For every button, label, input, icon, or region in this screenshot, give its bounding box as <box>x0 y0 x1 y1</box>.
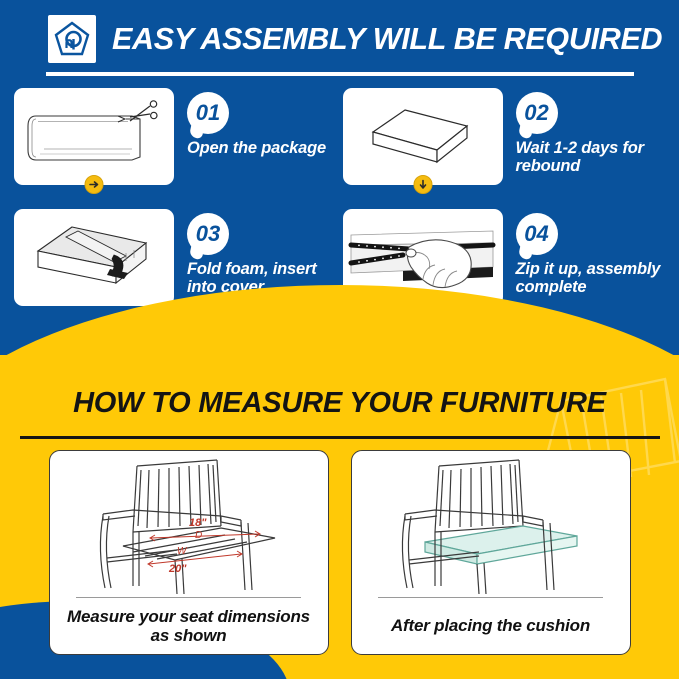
chair-with-dimension-callouts-illustration: 18" D W 20" <box>50 451 328 597</box>
measure-panels: 18" D W 20" Measure your seat dimensions… <box>0 450 679 655</box>
step-number-badge: 04 <box>516 213 558 255</box>
step-label: Zip it up, assembly complete <box>516 260 666 297</box>
header-divider <box>46 72 634 76</box>
house-pentagon-logo-icon <box>48 15 96 63</box>
flat-foam-slab-illustration <box>343 88 503 185</box>
step-text: 02 Wait 1-2 days for rebound <box>516 88 666 176</box>
rolled-package-with-scissors-illustration <box>14 88 174 185</box>
panel-caption: Measure your seat dimensions as shown <box>50 598 328 654</box>
svg-text:18": 18" <box>189 517 207 529</box>
panel-caption: After placing the cushion <box>383 598 598 654</box>
step-number-badge: 03 <box>187 213 229 255</box>
measure-panel: 18" D W 20" Measure your seat dimensions… <box>49 450 329 655</box>
step-text: 04 Zip it up, assembly complete <box>516 209 666 297</box>
step-label: Open the package <box>187 139 326 157</box>
step-text: 03 Fold foam, insert into cover <box>187 209 337 297</box>
measure-panel: After placing the cushion <box>351 450 631 655</box>
step-text: 01 Open the package <box>187 88 326 157</box>
svg-text:W: W <box>177 546 188 557</box>
step-number-badge: 02 <box>516 92 558 134</box>
svg-text:20": 20" <box>168 563 187 575</box>
measure-divider <box>20 436 660 439</box>
svg-text:D: D <box>195 530 202 541</box>
step-item: 01 Open the package <box>14 88 337 204</box>
step-number-badge: 01 <box>187 92 229 134</box>
assembly-section: EASY ASSEMBLY WILL BE REQUIRED <box>0 0 679 355</box>
measure-heading: HOW TO MEASURE YOUR FURNITURE <box>0 387 679 420</box>
assembly-instructions-infographic: EASY ASSEMBLY WILL BE REQUIRED <box>0 0 679 679</box>
step-item: 02 Wait 1-2 days for rebound <box>343 88 666 204</box>
step-label: Wait 1-2 days for rebound <box>516 139 666 176</box>
header-bar: EASY ASSEMBLY WILL BE REQUIRED <box>0 8 679 70</box>
foam-folded-into-cover-illustration <box>14 209 174 306</box>
arrow-down-icon <box>413 175 432 194</box>
chair-with-cushion-illustration <box>352 451 630 597</box>
page-title: EASY ASSEMBLY WILL BE REQUIRED <box>112 22 662 57</box>
arrow-right-icon <box>85 175 104 194</box>
measure-section: HOW TO MEASURE YOUR FURNITURE <box>0 355 679 679</box>
